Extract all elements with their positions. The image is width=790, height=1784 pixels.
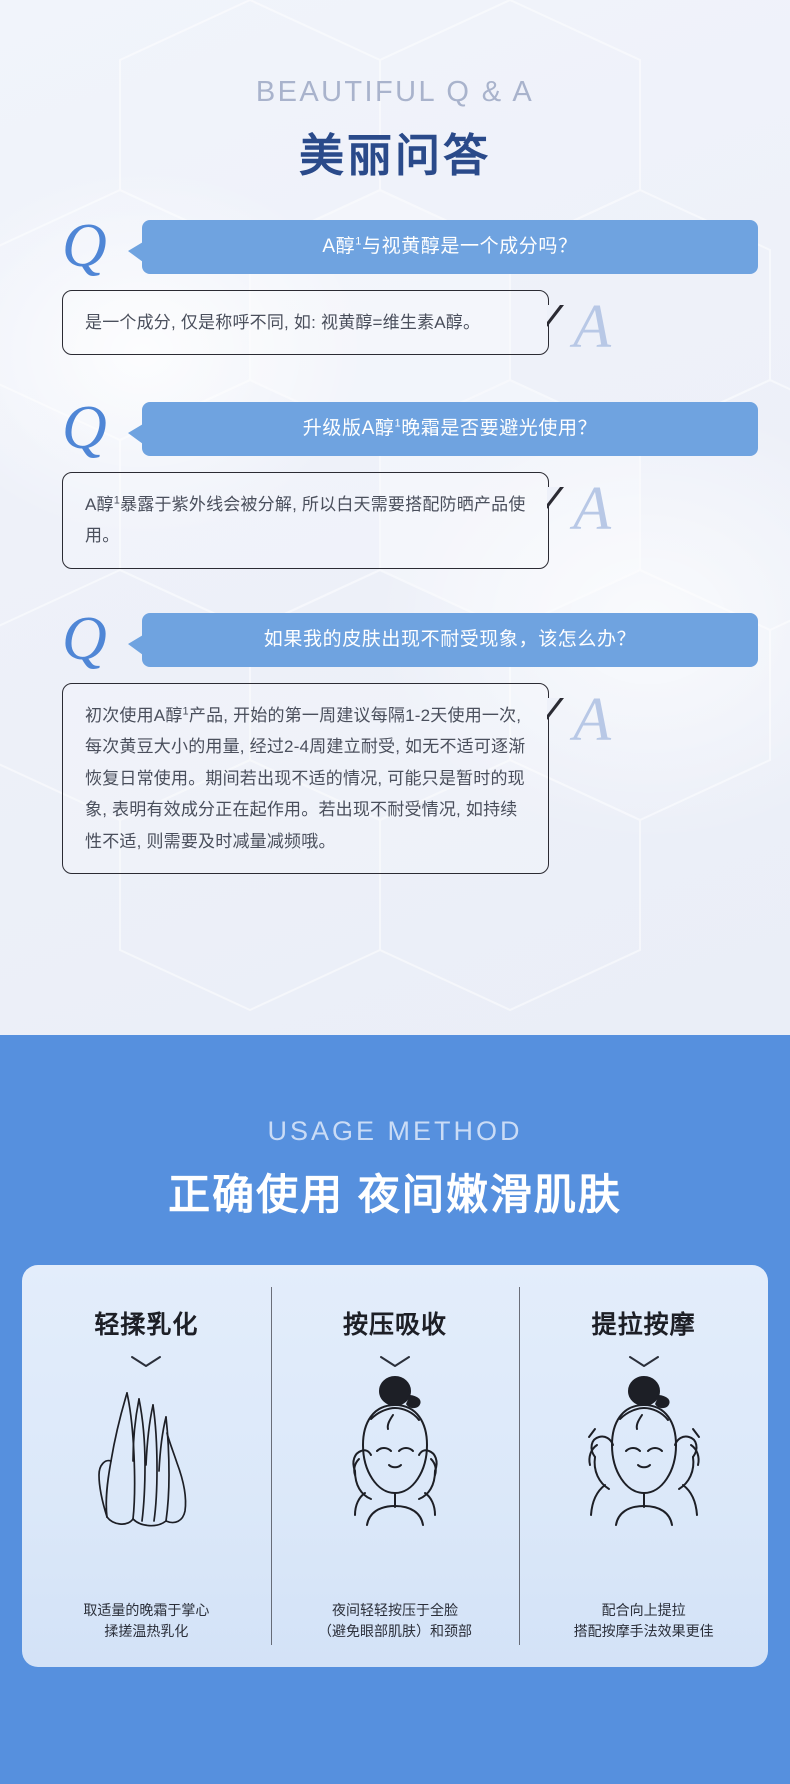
qa-section: BEAUTIFUL Q & A 美丽问答 Q A醇1与视黄醇是一个成分吗？ 是一… bbox=[0, 0, 790, 1035]
step-title: 轻揉乳化 bbox=[94, 1305, 198, 1341]
question-letter-icon: Q bbox=[62, 215, 122, 277]
step-caption: 配合向上提拉 搭配按摩手法效果更佳 bbox=[519, 1600, 768, 1643]
product-detail-page: BEAUTIFUL Q & A 美丽问答 Q A醇1与视黄醇是一个成分吗？ 是一… bbox=[0, 0, 790, 1784]
usage-step-2: 按压吸收 bbox=[271, 1265, 520, 1667]
question-bubble[interactable]: 如果我的皮肤出现不耐受现象，该怎么办？ bbox=[142, 613, 758, 667]
caption-line-2: 揉搓温热乳化 bbox=[22, 1621, 271, 1643]
answer-box: 初次使用A醇1产品, 开始的第一周建议每隔1-2天使用一次, 每次黄豆大小的用量… bbox=[62, 683, 549, 874]
qa-item: Q 如果我的皮肤出现不耐受现象，该怎么办？ 初次使用A醇1产品, 开始的第一周建… bbox=[0, 613, 790, 874]
face-press-icon bbox=[315, 1375, 475, 1535]
answer-row: 是一个成分, 仅是称呼不同, 如: 视黄醇=维生素A醇。 A bbox=[0, 290, 790, 358]
usage-step-1: 轻揉乳化 bbox=[22, 1265, 271, 1667]
question-row: Q 如果我的皮肤出现不耐受现象，该怎么办？ bbox=[0, 613, 790, 667]
usage-eng-title: USAGE METHOD bbox=[0, 1116, 790, 1147]
answer-text: A醇1暴露于紫外线会被分解, 所以白天需要搭配防晒产品使用。 bbox=[85, 489, 526, 552]
caption-line-2: 搭配按摩手法效果更佳 bbox=[519, 1621, 768, 1643]
chevron-down-icon bbox=[627, 1355, 661, 1369]
caption-line-1: 夜间轻轻按压于全脸 bbox=[271, 1600, 520, 1622]
question-bubble[interactable]: 升级版A醇1晚霜是否要避光使用？ bbox=[142, 402, 758, 456]
qa-list: Q A醇1与视黄醇是一个成分吗？ 是一个成分, 仅是称呼不同, 如: 视黄醇=维… bbox=[0, 220, 790, 874]
qa-cn-title: 美丽问答 bbox=[0, 119, 790, 184]
step-caption: 夜间轻轻按压于全脸 （避免眼部肌肤）和颈部 bbox=[271, 1600, 520, 1643]
answer-box: 是一个成分, 仅是称呼不同, 如: 视黄醇=维生素A醇。 bbox=[62, 290, 549, 355]
question-letter-icon: Q bbox=[62, 397, 122, 459]
step-title: 按压吸收 bbox=[343, 1305, 447, 1341]
question-text: 升级版A醇1晚霜是否要避光使用？ bbox=[303, 416, 597, 443]
caption-line-1: 取适量的晚霜于掌心 bbox=[22, 1600, 271, 1622]
qa-header: BEAUTIFUL Q & A 美丽问答 bbox=[0, 0, 790, 184]
usage-method-section: USAGE METHOD 正确使用 夜间嫩滑肌肤 轻揉乳化 bbox=[0, 1035, 790, 1784]
step-caption: 取适量的晚霜于掌心 揉搓温热乳化 bbox=[22, 1600, 271, 1643]
answer-row: A醇1暴露于紫外线会被分解, 所以白天需要搭配防晒产品使用。 A bbox=[0, 472, 790, 569]
qa-eng-title: BEAUTIFUL Q & A bbox=[0, 76, 790, 109]
answer-box: A醇1暴露于紫外线会被分解, 所以白天需要搭配防晒产品使用。 bbox=[62, 472, 549, 569]
question-bubble[interactable]: A醇1与视黄醇是一个成分吗？ bbox=[142, 220, 758, 274]
answer-row: 初次使用A醇1产品, 开始的第一周建议每隔1-2天使用一次, 每次黄豆大小的用量… bbox=[0, 683, 790, 874]
question-letter-icon: Q bbox=[62, 608, 122, 670]
question-row: Q A醇1与视黄醇是一个成分吗？ bbox=[0, 220, 790, 274]
step-title: 提拉按摩 bbox=[592, 1305, 696, 1341]
question-text: 如果我的皮肤出现不耐受现象，该怎么办？ bbox=[264, 627, 636, 654]
usage-step-3: 提拉按摩 bbox=[519, 1265, 768, 1667]
face-lift-massage-icon bbox=[559, 1375, 729, 1535]
usage-header: USAGE METHOD 正确使用 夜间嫩滑肌肤 bbox=[0, 1036, 790, 1222]
chevron-down-icon bbox=[129, 1355, 163, 1369]
question-text: A醇1与视黄醇是一个成分吗？ bbox=[322, 234, 577, 261]
answer-text: 是一个成分, 仅是称呼不同, 如: 视黄醇=维生素A醇。 bbox=[85, 307, 526, 338]
praying-hands-icon bbox=[71, 1375, 221, 1535]
qa-item: Q 升级版A醇1晚霜是否要避光使用？ A醇1暴露于紫外线会被分解, 所以白天需要… bbox=[0, 402, 790, 569]
question-row: Q 升级版A醇1晚霜是否要避光使用？ bbox=[0, 402, 790, 456]
caption-line-1: 配合向上提拉 bbox=[519, 1600, 768, 1622]
chevron-down-icon bbox=[378, 1355, 412, 1369]
answer-text: 初次使用A醇1产品, 开始的第一周建议每隔1-2天使用一次, 每次黄豆大小的用量… bbox=[85, 700, 526, 857]
usage-cn-title: 正确使用 夜间嫩滑肌肤 bbox=[0, 1161, 790, 1222]
qa-item: Q A醇1与视黄醇是一个成分吗？ 是一个成分, 仅是称呼不同, 如: 视黄醇=维… bbox=[0, 220, 790, 358]
caption-line-2: （避免眼部肌肤）和颈部 bbox=[271, 1621, 520, 1643]
usage-steps-card: 轻揉乳化 bbox=[22, 1265, 768, 1667]
